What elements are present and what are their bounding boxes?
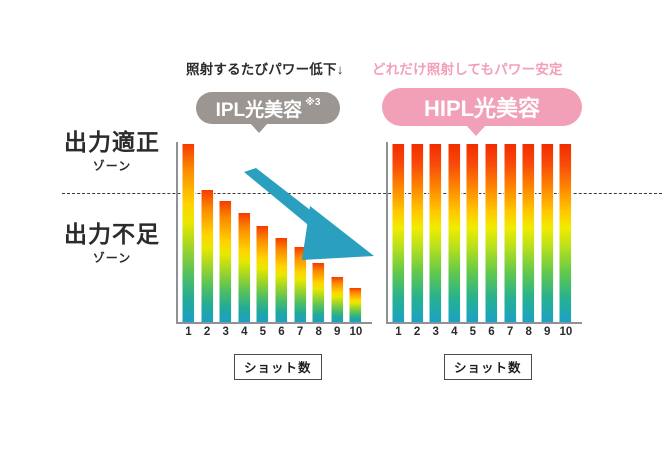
bar [411, 144, 424, 322]
x-tick-label: 2 [411, 326, 424, 338]
bar [504, 144, 517, 322]
badge-hipl-label: HIPL光美容 [424, 91, 540, 123]
x-tick-label: 3 [429, 326, 442, 338]
x-tick-label: 7 [294, 326, 307, 338]
bar [392, 144, 405, 322]
chart-hipl: 12345678910 [386, 142, 582, 324]
axis-title-left: ショット数 [234, 354, 322, 380]
bar [485, 144, 498, 322]
zone-lower-subtitle: ゾーン [52, 249, 172, 266]
x-tick-label: 5 [466, 326, 479, 338]
bar [349, 288, 362, 322]
bar [522, 144, 535, 322]
x-tick-label: 5 [256, 326, 269, 338]
x-tick-label: 4 [238, 326, 251, 338]
x-tick-label: 9 [331, 326, 344, 338]
x-tick-label: 2 [201, 326, 214, 338]
chart-hipl-x-axis [386, 322, 582, 324]
bar [541, 144, 554, 322]
zone-upper-subtitle: ゾーン [52, 157, 172, 174]
badge-hipl-tail [466, 125, 486, 136]
chart-hipl-bars [392, 144, 572, 322]
bar [219, 201, 232, 322]
axis-title-right: ショット数 [444, 354, 532, 380]
badge-ipl-label: IPL光美容 [216, 95, 303, 122]
x-tick-label: 10 [559, 326, 572, 338]
x-tick-label: 1 [182, 326, 195, 338]
bar [201, 190, 214, 322]
bar [429, 144, 442, 322]
chart-ipl-x-ticks: 12345678910 [182, 326, 362, 338]
zone-upper-title: 出力適正 [52, 130, 172, 154]
bar [559, 144, 572, 322]
x-tick-label: 1 [392, 326, 405, 338]
zone-label-lower: 出力不足 ゾーン [52, 222, 172, 266]
caption-left: 照射するたびパワー低下↓ [186, 58, 344, 78]
bar [182, 144, 195, 322]
badge-hipl: HIPL光美容 [382, 88, 582, 126]
x-tick-label: 8 [312, 326, 325, 338]
caption-right: どれだけ照射してもパワー安定 [372, 58, 563, 78]
chart-hipl-y-axis [386, 142, 388, 324]
x-tick-label: 6 [485, 326, 498, 338]
x-tick-label: 10 [349, 326, 362, 338]
bar [466, 144, 479, 322]
bar [448, 144, 461, 322]
chart-ipl-x-axis [176, 322, 372, 324]
x-tick-label: 3 [219, 326, 232, 338]
bar [331, 277, 344, 322]
figure-root: 照射するたびパワー低下↓ どれだけ照射してもパワー安定 IPL光美容※3 HIP… [0, 0, 672, 450]
x-tick-label: 8 [522, 326, 535, 338]
chart-hipl-x-ticks: 12345678910 [392, 326, 572, 338]
badge-ipl-footnote: ※3 [305, 98, 320, 108]
x-tick-label: 7 [504, 326, 517, 338]
zone-label-upper: 出力適正 ゾーン [52, 130, 172, 174]
x-tick-label: 9 [541, 326, 554, 338]
badge-ipl-tail [250, 123, 268, 133]
down-right-arrow-icon [232, 168, 382, 280]
x-tick-label: 4 [448, 326, 461, 338]
badge-ipl: IPL光美容※3 [196, 92, 340, 124]
zone-lower-title: 出力不足 [52, 222, 172, 246]
x-tick-label: 6 [275, 326, 288, 338]
chart-ipl-y-axis [176, 142, 178, 324]
